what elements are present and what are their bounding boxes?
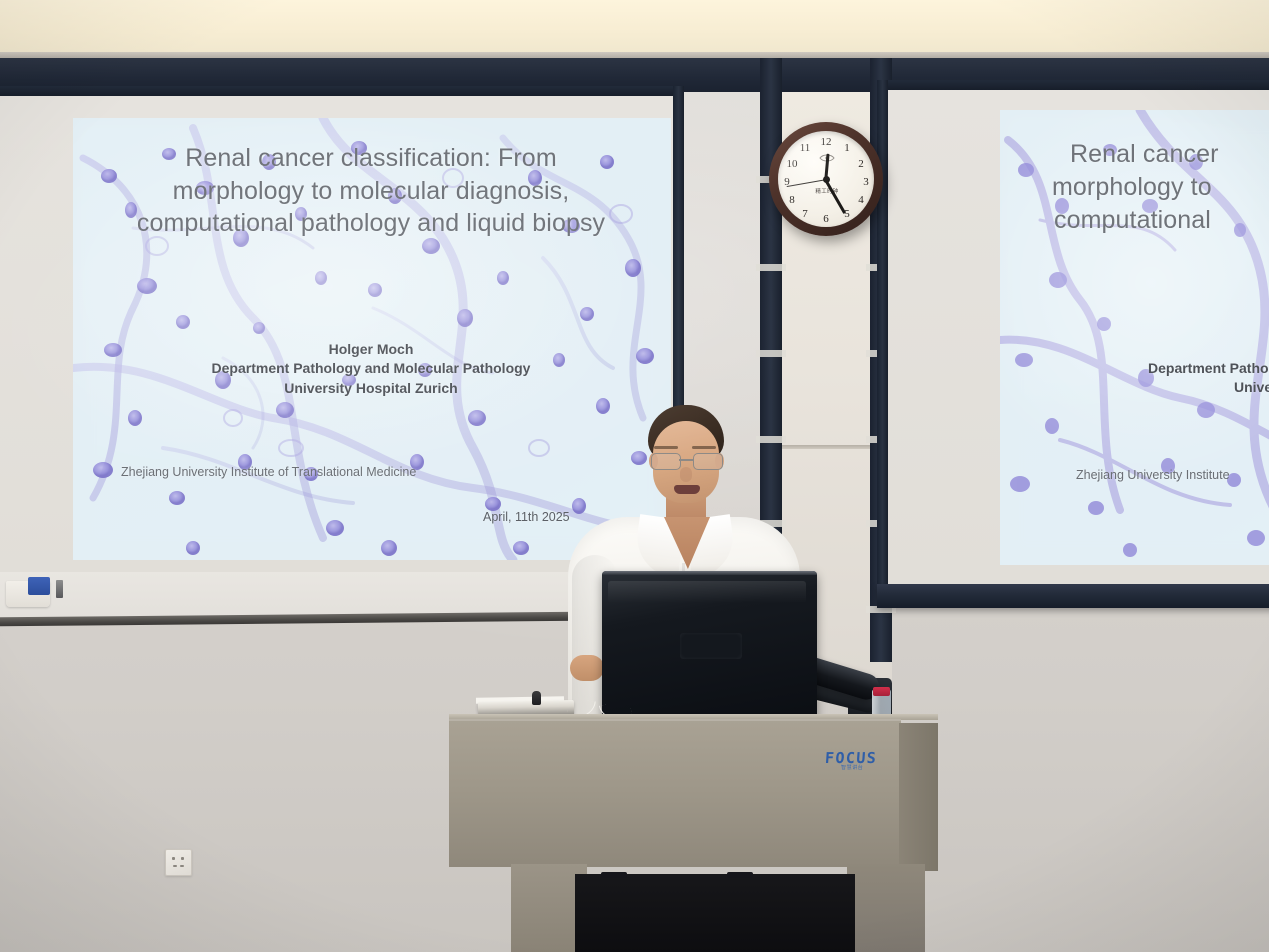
screen-frame-top-right	[877, 80, 1269, 90]
slide-title: Renal cancer classification: From morpho…	[121, 142, 621, 240]
clock-face: 12 1 2 3 4 5 6 7 8 9 10 11 精工时钟	[778, 131, 874, 227]
clock-numeral-6: 6	[819, 212, 833, 226]
whiteboard-marker-tray	[6, 581, 50, 607]
podium-lower-dark-panel	[575, 874, 855, 952]
podium-panel-clip-left	[601, 872, 627, 878]
clock-numeral-8: 8	[785, 193, 799, 207]
screen-weight-bar-right	[877, 584, 1269, 608]
clock-numeral-4: 4	[854, 193, 868, 207]
clock-numeral-1: 1	[840, 141, 854, 155]
presenter-hand	[570, 655, 604, 681]
clock-numeral-2: 2	[854, 157, 868, 171]
slide-title-right-line1: Renal cancer	[1070, 138, 1269, 171]
presenter-institution: University Hospital Zurich	[113, 379, 629, 398]
presenter-glasses	[649, 453, 723, 468]
screen-frame-top	[0, 86, 684, 96]
lecture-hall-scene: Renal cancer classification: From morpho…	[0, 0, 1269, 952]
podium-base-right	[847, 864, 925, 952]
slide-presenter-block: Holger Moch Department Pathology and Mol…	[113, 340, 629, 398]
slide-host-line: Zhejiang University Institute of Transla…	[121, 465, 416, 479]
monitor-top-rim	[602, 571, 817, 575]
monitor-vesa-mount	[680, 633, 742, 659]
whiteboard-eraser	[28, 577, 50, 595]
clock-numeral-10: 10	[785, 157, 799, 171]
clock-numeral-3: 3	[859, 175, 873, 189]
glasses-lens-left	[651, 453, 681, 470]
podium-side-panel	[899, 723, 938, 871]
podium-brand-sublabel: 智慧讲台	[841, 764, 863, 771]
presenter-nose	[680, 467, 692, 482]
slide-department-right: Department Patholo	[1148, 359, 1269, 378]
slide-title-right-line2: morphology to	[1052, 171, 1269, 204]
slide-title-right-line3: computational	[1054, 204, 1269, 237]
clock-brand-text: 精工时钟	[805, 189, 849, 196]
podium-panel-clip-right	[727, 872, 753, 878]
podium-front-panel: FOCUS 智慧讲台	[449, 719, 901, 867]
ceiling	[0, 0, 1269, 58]
presenter-brow-left	[654, 446, 678, 449]
clock-minute-hand	[825, 179, 846, 213]
wall-power-outlet	[165, 849, 192, 876]
podium: FOCUS 智慧讲台	[449, 714, 938, 952]
slide-right: Renal cancer morphology to computational…	[1000, 110, 1269, 565]
monitor-back-sheen	[608, 581, 806, 603]
clock-center-pin	[823, 176, 830, 183]
whiteboard-marker	[56, 580, 63, 598]
presenter-monitor[interactable]	[602, 571, 817, 721]
clock-numeral-7: 7	[798, 207, 812, 221]
water-bottle-cap	[873, 687, 890, 696]
slide-host-line-right: Zhejiang University Institute	[1076, 468, 1230, 482]
wall-clock: 12 1 2 3 4 5 6 7 8 9 10 11 精工时钟	[769, 122, 883, 236]
presenter-name: Holger Moch	[113, 340, 629, 359]
screen-surface-right: Renal cancer morphology to computational…	[888, 90, 1269, 584]
glasses-bridge	[679, 459, 693, 461]
presenter-brow-right	[692, 446, 716, 449]
presenter-mouth	[674, 485, 700, 494]
projection-screen-right: Renal cancer morphology to computational…	[877, 80, 1269, 608]
desk-microphone[interactable]	[532, 691, 541, 705]
glasses-lens-right	[693, 453, 723, 470]
presenter-department: Department Pathology and Molecular Patho…	[113, 359, 629, 378]
slide-institution-right: Universi	[1234, 378, 1269, 397]
clock-numeral-12: 12	[819, 135, 833, 149]
clock-numeral-11: 11	[798, 141, 812, 155]
